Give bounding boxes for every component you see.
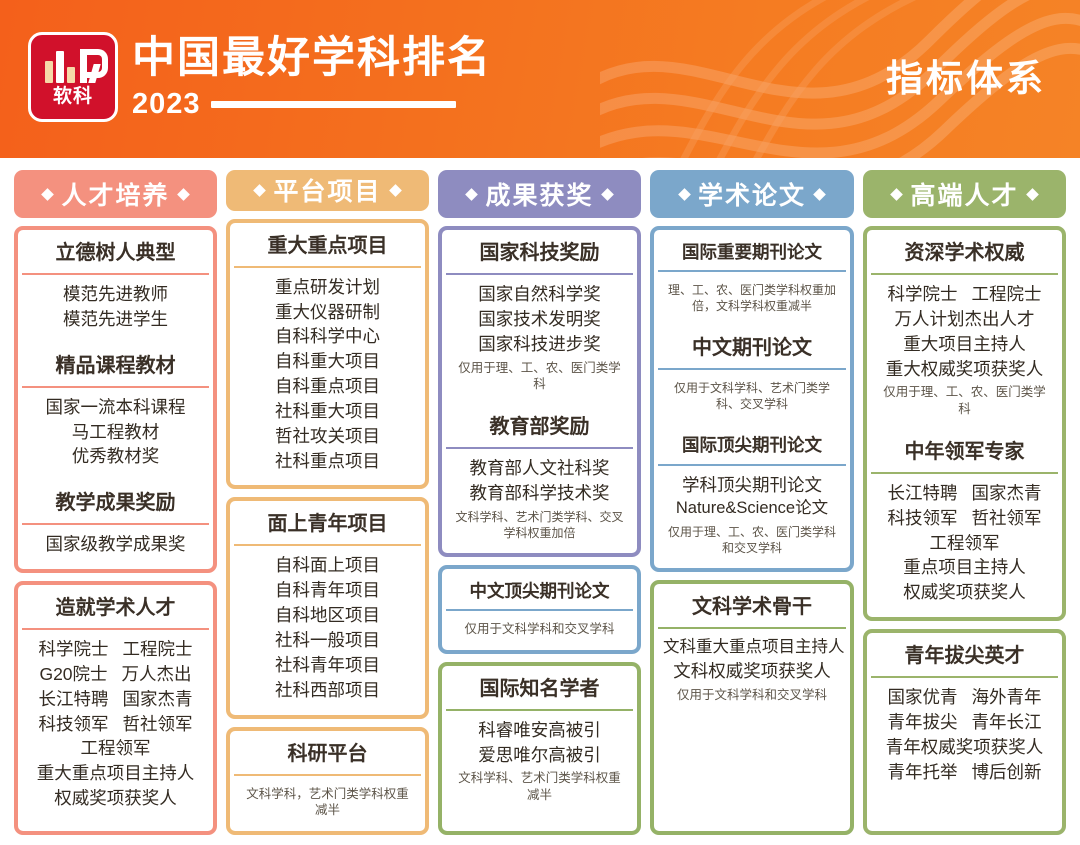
indicator-item: 社科重点项目 <box>239 449 416 474</box>
page-header: 软科 中国最好学科排名 2023 指标体系 <box>0 0 1080 158</box>
indicator-column-papers: 学术论文国际重要期刊论文理、工、农、医门类学科权重加倍，文科学科权重减半中文期刊… <box>650 170 854 835</box>
indicator-item: 长江特聘 <box>888 481 958 506</box>
indicator-item: 长江特聘 <box>39 687 109 712</box>
indicator-item: 自科重点项目 <box>239 374 416 399</box>
indicator-item-pair: 长江特聘国家杰青 <box>27 687 204 712</box>
indicator-item: 社科一般项目 <box>239 628 416 653</box>
indicator-item: 国家科技进步奖 <box>451 332 628 357</box>
indicator-card[interactable]: 青年拔尖英才国家优青海外青年青年拔尖青年长江青年权威奖项获奖人青年托举博后创新 <box>871 637 1058 792</box>
indicator-item: 科学院士 <box>888 282 958 307</box>
indicator-group: 立德树人典型模范先进教师模范先进学生精品课程教材国家一流本科课程马工程教材优秀教… <box>14 226 217 573</box>
indicator-item: 社科重大项目 <box>239 399 416 424</box>
indicator-card-body: 国家优青海外青年青年拔尖青年长江青年权威奖项获奖人青年托举博后创新 <box>871 678 1058 792</box>
column-header-elite[interactable]: 高端人才 <box>863 170 1066 218</box>
indicator-item: 重大项目主持人 <box>876 332 1053 357</box>
indicator-card[interactable]: 资深学术权威科学院士工程院士万人计划杰出人才重大项目主持人重大权威奖项获奖人仅用… <box>871 234 1058 426</box>
indicator-item: 哲社领军 <box>972 506 1042 531</box>
indicator-group: 面上青年项目自科面上项目自科青年项目自科地区项目社科一般项目社科青年项目社科西部… <box>226 497 429 718</box>
diamond-icon <box>601 188 614 201</box>
title-rule <box>211 101 456 108</box>
diamond-icon <box>389 184 402 197</box>
indicator-card-body: 自科面上项目自科青年项目自科地区项目社科一般项目社科青年项目社科西部项目 <box>234 546 421 710</box>
diamond-icon <box>813 188 826 201</box>
indicator-card[interactable]: 国际重要期刊论文理、工、农、医门类学科权重加倍，文科学科权重减半 <box>658 234 846 322</box>
indicator-item: 工程领军 <box>876 531 1053 556</box>
indicator-card-body: 文科学科，艺术门类学科权重减半 <box>234 776 421 828</box>
indicator-group: 青年拔尖英才国家优青海外青年青年拔尖青年长江青年权威奖项获奖人青年托举博后创新 <box>863 629 1066 835</box>
indicator-card-body: 科学院士工程院士万人计划杰出人才重大项目主持人重大权威奖项获奖人仅用于理、工、农… <box>871 275 1058 426</box>
shanghairanking-logo-icon: 软科 <box>28 32 118 122</box>
indicator-card[interactable]: 国家科技奖励国家自然科学奖国家技术发明奖国家科技进步奖仅用于理、工、农、医门类学… <box>446 234 633 401</box>
indicator-item: 万人计划杰出人才 <box>876 307 1053 332</box>
indicator-item-pair: G20院士万人杰出 <box>27 662 204 687</box>
indicator-card-body: 国家自然科学奖国家技术发明奖国家科技进步奖仅用于理、工、农、医门类学科 <box>446 275 633 401</box>
indicator-card-title: 立德树人典型 <box>22 234 209 273</box>
indicator-card-note: 仅用于理、工、农、医门类学科 <box>451 360 628 394</box>
indicator-group: 资深学术权威科学院士工程院士万人计划杰出人才重大项目主持人重大权威奖项获奖人仅用… <box>863 226 1066 621</box>
indicator-item: 青年拔尖 <box>888 710 958 735</box>
indicator-card-body: 国家一流本科课程马工程教材优秀教材奖 <box>22 388 209 478</box>
indicator-card[interactable]: 文科学术骨干文科重大重点项目主持人文科权威奖项获奖人仅用于文科学科和交叉学科 <box>658 588 846 712</box>
indicator-group: 中文顶尖期刊论文仅用于文科学科和交叉学科 <box>438 565 641 654</box>
indicator-item: 青年托举 <box>888 760 958 785</box>
indicator-item: 青年权威奖项获奖人 <box>876 735 1053 760</box>
indicator-item: 科睿唯安高被引 <box>451 718 628 743</box>
indicator-item: 学科顶尖期刊论文 <box>663 473 841 498</box>
indicator-card[interactable]: 中文顶尖期刊论文仅用于文科学科和交叉学科 <box>446 573 633 646</box>
indicator-item: 权威奖项获奖人 <box>27 786 204 811</box>
indicator-group: 科研平台文科学科，艺术门类学科权重减半 <box>226 727 429 836</box>
indicator-card[interactable]: 科研平台文科学科，艺术门类学科权重减半 <box>234 735 421 828</box>
indicator-card-body: 重点研发计划重大仪器研制自科科学中心自科重大项目自科重点项目社科重大项目哲社攻关… <box>234 268 421 482</box>
indicator-card[interactable]: 精品课程教材国家一流本科课程马工程教材优秀教材奖 <box>22 347 209 478</box>
indicator-item: 权威奖项获奖人 <box>876 580 1053 605</box>
indicator-item: 海外青年 <box>972 685 1042 710</box>
diamond-icon <box>466 188 479 201</box>
indicator-card[interactable]: 中年领军专家长江特聘国家杰青科技领军哲社领军工程领军重点项目主持人权威奖项获奖人 <box>871 433 1058 613</box>
indicator-card-note: 理、工、农、医门类学科权重加倍，文科学科权重减半 <box>663 282 841 314</box>
indicator-card[interactable]: 中文期刊论文仅用于文科学科、艺术门类学科、交叉学科 <box>658 329 846 420</box>
indicator-item: 模范先进学生 <box>27 307 204 332</box>
logo-letter-r-icon <box>80 49 102 83</box>
indicator-card[interactable]: 立德树人典型模范先进教师模范先进学生 <box>22 234 209 340</box>
indicator-card-note: 文科学科，艺术门类学科权重减半 <box>239 786 416 820</box>
indicator-item: 青年长江 <box>972 710 1042 735</box>
indicator-item: 国家杰青 <box>972 481 1042 506</box>
indicator-item: 自科地区项目 <box>239 603 416 628</box>
indicator-item: Nature&Science论文 <box>663 497 841 520</box>
indicator-group: 造就学术人才科学院士工程院士G20院士万人杰出长江特聘国家杰青科技领军哲社领军工… <box>14 581 217 835</box>
indicator-card-title: 国际顶尖期刊论文 <box>658 427 846 463</box>
indicator-item: 国家自然科学奖 <box>451 282 628 307</box>
indicator-card-body: 教育部人文社科奖教育部科学技术奖文科学科、艺术门类学科、交叉学科权重加倍 <box>446 449 633 549</box>
indicator-card-title: 中文顶尖期刊论文 <box>446 573 633 609</box>
indicator-card-title: 教育部奖励 <box>446 408 633 447</box>
indicator-group: 国家科技奖励国家自然科学奖国家技术发明奖国家科技进步奖仅用于理、工、农、医门类学… <box>438 226 641 557</box>
column-header-talent[interactable]: 人才培养 <box>14 170 217 218</box>
indicator-item: 国家级教学成果奖 <box>27 532 204 557</box>
indicator-item-pair: 长江特聘国家杰青 <box>876 481 1053 506</box>
indicator-item: 哲社领军 <box>123 712 193 737</box>
indicator-item: 科技领军 <box>39 712 109 737</box>
column-header-label: 成果获奖 <box>485 176 593 212</box>
indicator-group: 国际知名学者科睿唯安高被引爱思唯尔高被引文科学科、艺术门类学科权重减半 <box>438 662 641 835</box>
indicator-column-talent: 人才培养立德树人典型模范先进教师模范先进学生精品课程教材国家一流本科课程马工程教… <box>14 170 217 835</box>
indicator-item: G20院士 <box>39 662 107 687</box>
indicator-card-title: 资深学术权威 <box>871 234 1058 273</box>
indicator-item: 工程领军 <box>27 736 204 761</box>
column-header-papers[interactable]: 学术论文 <box>650 170 854 218</box>
indicator-item: 博后创新 <box>972 760 1042 785</box>
indicator-card-title: 教学成果奖励 <box>22 484 209 523</box>
indicator-card-note: 仅用于文科学科、艺术门类学科、交叉学科 <box>663 380 841 412</box>
indicator-item: 文科重大重点项目主持人 <box>663 636 841 659</box>
indicator-item-pair: 科技领军哲社领军 <box>876 506 1053 531</box>
indicator-card-body: 仅用于文科学科和交叉学科 <box>446 611 633 646</box>
indicator-item-pair: 青年托举博后创新 <box>876 760 1053 785</box>
year-label: 2023 <box>132 88 201 121</box>
indicator-item: 重大权威奖项获奖人 <box>876 357 1053 382</box>
column-header-label: 平台项目 <box>273 172 381 208</box>
indicator-card-note: 仅用于文科学科和交叉学科 <box>663 687 841 704</box>
indicator-card-body: 仅用于文科学科、艺术门类学科、交叉学科 <box>658 370 846 420</box>
indicator-item: 优秀教材奖 <box>27 444 204 469</box>
indicator-item: 社科西部项目 <box>239 678 416 703</box>
indicator-item-pair: 科技领军哲社领军 <box>27 712 204 737</box>
indicator-card-body: 理、工、农、医门类学科权重加倍，文科学科权重减半 <box>658 272 846 322</box>
indicator-card[interactable]: 面上青年项目自科面上项目自科青年项目自科地区项目社科一般项目社科青年项目社科西部… <box>234 505 421 710</box>
indicator-card-body: 科学院士工程院士G20院士万人杰出长江特聘国家杰青科技领军哲社领军工程领军重大重… <box>22 630 209 819</box>
indicator-card-title: 国家科技奖励 <box>446 234 633 273</box>
indicator-card[interactable]: 重大重点项目重点研发计划重大仪器研制自科科学中心自科重大项目自科重点项目社科重大… <box>234 227 421 482</box>
indicator-columns: 人才培养立德树人典型模范先进教师模范先进学生精品课程教材国家一流本科课程马工程教… <box>14 170 1066 835</box>
indicator-card-title: 科研平台 <box>234 735 421 774</box>
indicator-item: 科技领军 <box>888 506 958 531</box>
indicator-item: 文科权威奖项获奖人 <box>663 659 841 684</box>
indicator-item: 自科青年项目 <box>239 578 416 603</box>
indicator-card-title: 青年拔尖英才 <box>871 637 1058 676</box>
indicator-item: 爱思唯尔高被引 <box>451 743 628 768</box>
indicator-column-awards: 成果获奖国家科技奖励国家自然科学奖国家技术发明奖国家科技进步奖仅用于理、工、农、… <box>438 170 641 835</box>
page-title: 中国最好学科排名 <box>132 34 492 82</box>
indicator-panel: 人才培养立德树人典型模范先进教师模范先进学生精品课程教材国家一流本科课程马工程教… <box>0 158 1080 845</box>
indicator-item: 国家优青 <box>888 685 958 710</box>
indicator-group: 文科学术骨干文科重大重点项目主持人文科权威奖项获奖人仅用于文科学科和交叉学科 <box>650 580 854 835</box>
indicator-card-note: 仅用于文科学科和交叉学科 <box>451 621 628 638</box>
indicator-card[interactable]: 教育部奖励教育部人文社科奖教育部科学技术奖文科学科、艺术门类学科、交叉学科权重加… <box>446 408 633 549</box>
indicator-item-pair: 科学院士工程院士 <box>876 282 1053 307</box>
indicator-item: 社科青年项目 <box>239 653 416 678</box>
indicator-item: 马工程教材 <box>27 420 204 445</box>
indicator-card-body: 长江特聘国家杰青科技领军哲社领军工程领军重点项目主持人权威奖项获奖人 <box>871 474 1058 613</box>
year-row: 2023 <box>132 88 492 121</box>
indicator-item: 自科面上项目 <box>239 553 416 578</box>
indicator-item: 万人杰出 <box>122 662 192 687</box>
indicator-item: 国家技术发明奖 <box>451 307 628 332</box>
indicator-item: 工程院士 <box>123 637 193 662</box>
indicator-card-title: 精品课程教材 <box>22 347 209 386</box>
indicator-card-body: 文科重大重点项目主持人文科权威奖项获奖人仅用于文科学科和交叉学科 <box>658 629 846 712</box>
indicator-card-title: 造就学术人才 <box>22 589 209 628</box>
indicator-item: 科学院士 <box>39 637 109 662</box>
indicator-item: 重大仪器研制 <box>239 300 416 325</box>
indicator-item: 自科重大项目 <box>239 349 416 374</box>
column-header-awards[interactable]: 成果获奖 <box>438 170 641 218</box>
indicator-card-body: 科睿唯安高被引爱思唯尔高被引文科学科、艺术门类学科权重减半 <box>446 711 633 812</box>
column-header-platform[interactable]: 平台项目 <box>226 170 429 211</box>
indicator-card-note: 文科学科、艺术门类学科权重减半 <box>451 770 628 804</box>
indicator-item: 重大重点项目主持人 <box>27 761 204 786</box>
logo-chinese-name: 软科 <box>51 86 95 109</box>
indicator-card[interactable]: 国际知名学者科睿唯安高被引爱思唯尔高被引文科学科、艺术门类学科权重减半 <box>446 670 633 812</box>
indicator-card-note: 仅用于理、工、农、医门类学科和交叉学科 <box>663 524 841 556</box>
indicator-card-body: 国家级教学成果奖 <box>22 525 209 565</box>
indicator-card-note: 仅用于理、工、农、医门类学科 <box>876 384 1053 418</box>
logo-bars-icon <box>45 49 102 83</box>
diamond-icon <box>177 188 190 201</box>
diamond-icon <box>891 188 904 201</box>
indicator-card-note: 文科学科、艺术门类学科、交叉学科权重加倍 <box>451 509 628 541</box>
indicator-item: 重点研发计划 <box>239 275 416 300</box>
diamond-icon <box>254 184 267 197</box>
diamond-icon <box>42 188 55 201</box>
indicator-card-title: 文科学术骨干 <box>658 588 846 627</box>
indicator-column-platform: 平台项目重大重点项目重点研发计划重大仪器研制自科科学中心自科重大项目自科重点项目… <box>226 170 429 835</box>
indicator-card-title: 国际重要期刊论文 <box>658 234 846 270</box>
indicator-item: 哲社攻关项目 <box>239 424 416 449</box>
indicator-card[interactable]: 造就学术人才科学院士工程院士G20院士万人杰出长江特聘国家杰青科技领军哲社领军工… <box>22 589 209 819</box>
indicator-item: 国家杰青 <box>123 687 193 712</box>
indicator-item: 国家一流本科课程 <box>27 395 204 420</box>
indicator-item: 模范先进教师 <box>27 282 204 307</box>
indicator-item-pair: 青年拔尖青年长江 <box>876 710 1053 735</box>
indicator-card-title: 面上青年项目 <box>234 505 421 544</box>
diamond-icon <box>678 188 691 201</box>
brand-lockup: 软科 中国最好学科排名 2023 <box>28 32 492 122</box>
indicator-card-title: 国际知名学者 <box>446 670 633 709</box>
indicator-item: 教育部人文社科奖 <box>451 456 628 481</box>
indicator-item: 教育部科学技术奖 <box>451 481 628 506</box>
indicator-card-title: 中文期刊论文 <box>658 329 846 368</box>
indicator-item-pair: 科学院士工程院士 <box>27 637 204 662</box>
indicator-card-title: 中年领军专家 <box>871 433 1058 472</box>
column-header-label: 高端人才 <box>910 176 1018 212</box>
indicator-card[interactable]: 国际顶尖期刊论文学科顶尖期刊论文Nature&Science论文仅用于理、工、农… <box>658 427 846 564</box>
indicator-column-elite: 高端人才资深学术权威科学院士工程院士万人计划杰出人才重大项目主持人重大权威奖项获… <box>863 170 1066 835</box>
indicator-card-body: 模范先进教师模范先进学生 <box>22 275 209 340</box>
title-block: 中国最好学科排名 2023 <box>132 32 492 121</box>
indicator-item: 重点项目主持人 <box>876 555 1053 580</box>
indicator-group: 国际重要期刊论文理、工、农、医门类学科权重加倍，文科学科权重减半中文期刊论文仅用… <box>650 226 854 572</box>
column-header-label: 人才培养 <box>61 176 169 212</box>
column-header-label: 学术论文 <box>698 176 806 212</box>
indicator-item: 自科科学中心 <box>239 324 416 349</box>
section-title: 指标体系 <box>886 48 1046 102</box>
indicator-card-title: 重大重点项目 <box>234 227 421 266</box>
indicator-card[interactable]: 教学成果奖励国家级教学成果奖 <box>22 484 209 565</box>
indicator-group: 重大重点项目重点研发计划重大仪器研制自科科学中心自科重大项目自科重点项目社科重大… <box>226 219 429 490</box>
diamond-icon <box>1026 188 1039 201</box>
indicator-item-pair: 国家优青海外青年 <box>876 685 1053 710</box>
indicator-item: 工程院士 <box>972 282 1042 307</box>
indicator-card-body: 学科顶尖期刊论文Nature&Science论文仅用于理、工、农、医门类学科和交… <box>658 466 846 564</box>
